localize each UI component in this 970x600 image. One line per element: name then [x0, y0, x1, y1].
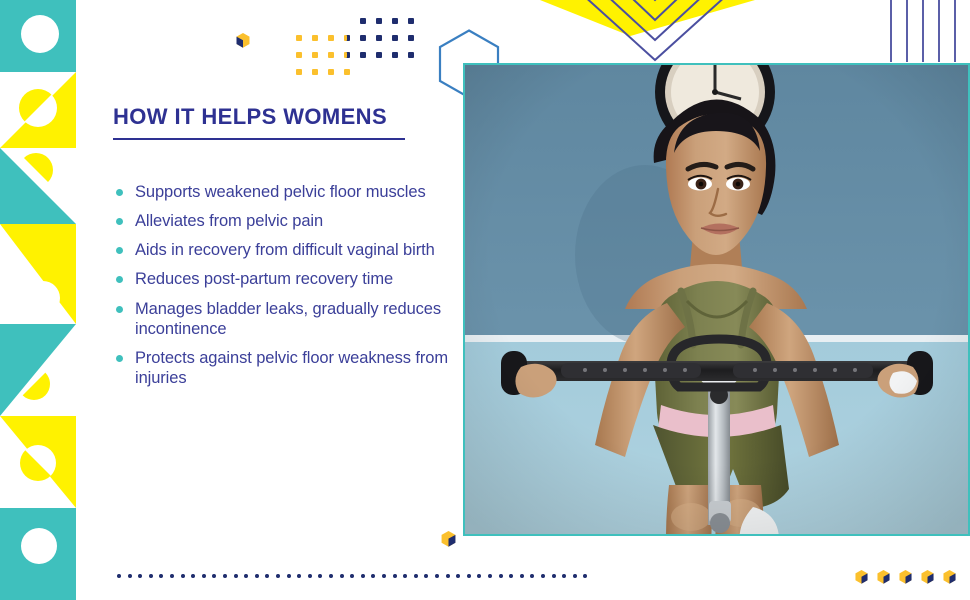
grid-dot — [328, 52, 334, 58]
rule-dot — [393, 574, 397, 578]
rule-dot — [371, 574, 375, 578]
white-circle — [21, 15, 59, 53]
left-decorative-strip — [0, 0, 76, 600]
rule-dot — [541, 574, 545, 578]
strip-cell-6 — [0, 416, 76, 508]
rule-dot — [350, 574, 354, 578]
cube-icon — [899, 570, 912, 584]
grid-dot — [376, 18, 382, 24]
rule-dot — [435, 574, 439, 578]
vertical-line — [938, 0, 940, 62]
rule-dot — [212, 574, 216, 578]
grid-dot — [360, 52, 366, 58]
grid-dot — [344, 35, 350, 41]
strip-cell-1 — [0, 0, 76, 72]
grid-dot — [376, 35, 382, 41]
strip-cell-5 — [0, 324, 76, 416]
benefit-item: Aids in recovery from difficult vaginal … — [113, 240, 463, 260]
rule-dot — [477, 574, 481, 578]
rule-dot — [446, 574, 450, 578]
dotted-rule-decoration — [117, 574, 591, 580]
strip-cell-3 — [0, 148, 76, 224]
rule-dot — [170, 574, 174, 578]
bullet-dot-icon — [116, 189, 123, 196]
rule-dot — [414, 574, 418, 578]
rule-dot — [117, 574, 121, 578]
rule-dot — [308, 574, 312, 578]
grid-dot — [392, 52, 398, 58]
vertical-line — [922, 0, 924, 62]
grid-dot — [328, 69, 334, 75]
grid-dot — [392, 18, 398, 24]
rule-dot — [287, 574, 291, 578]
rule-dot — [509, 574, 513, 578]
benefit-item-label: Protects against pelvic floor weakness f… — [135, 349, 448, 387]
cube-icon — [441, 531, 456, 547]
hero-photo-frame — [463, 63, 970, 536]
rule-dot — [318, 574, 322, 578]
benefit-item-label: Supports weakened pelvic floor muscles — [135, 183, 426, 201]
rule-dot — [403, 574, 407, 578]
bullet-dot-icon — [116, 306, 123, 313]
rule-dot — [234, 574, 238, 578]
vertical-lines-decoration — [880, 0, 970, 62]
benefit-item-label: Manages bladder leaks, gradually reduces… — [135, 300, 441, 338]
rule-dot — [138, 574, 142, 578]
hero-photo — [465, 65, 968, 534]
benefit-item-label: Reduces post-partum recovery time — [135, 270, 393, 288]
grid-dot — [360, 18, 366, 24]
promo-banner: HOW IT HELPS WOMENS Supports weakened pe… — [0, 0, 970, 600]
text-content-block: HOW IT HELPS WOMENS Supports weakened pe… — [113, 104, 463, 397]
rule-dot — [223, 574, 227, 578]
cube-icon — [943, 570, 956, 584]
grid-dot — [296, 52, 302, 58]
cube-icon — [921, 570, 934, 584]
grid-dot — [296, 69, 302, 75]
page-title: HOW IT HELPS WOMENS — [113, 104, 463, 136]
teal-triangle — [0, 324, 76, 416]
rule-dot — [499, 574, 503, 578]
rule-dot — [583, 574, 587, 578]
rule-dot — [456, 574, 460, 578]
rule-dot — [329, 574, 333, 578]
benefit-item: Alleviates from pelvic pain — [113, 211, 463, 231]
rule-dot — [265, 574, 269, 578]
benefit-item: Protects against pelvic floor weakness f… — [113, 348, 463, 388]
dot-grid-decoration — [296, 18, 412, 80]
vertical-line — [954, 0, 956, 62]
rule-dot — [340, 574, 344, 578]
rule-dot — [530, 574, 534, 578]
grid-dot — [312, 52, 318, 58]
rule-dot — [202, 574, 206, 578]
bullet-dot-icon — [116, 355, 123, 362]
rule-dot — [424, 574, 428, 578]
benefits-list: Supports weakened pelvic floor musclesAl… — [113, 182, 463, 388]
grid-dot — [312, 69, 318, 75]
bullet-dot-icon — [116, 218, 123, 225]
title-underline — [113, 138, 405, 140]
rule-dot — [244, 574, 248, 578]
rule-dot — [361, 574, 365, 578]
rule-dot — [297, 574, 301, 578]
benefit-item: Reduces post-partum recovery time — [113, 269, 463, 289]
rule-dot — [488, 574, 492, 578]
rule-dot — [128, 574, 132, 578]
grid-dot — [312, 35, 318, 41]
bullet-dot-icon — [116, 247, 123, 254]
cube-icon — [877, 570, 890, 584]
rule-dot — [382, 574, 386, 578]
rule-dot — [255, 574, 259, 578]
rule-dot — [562, 574, 566, 578]
grid-dot — [376, 52, 382, 58]
benefit-item-label: Aids in recovery from difficult vaginal … — [135, 241, 435, 259]
benefit-item: Manages bladder leaks, gradually reduces… — [113, 299, 463, 339]
grid-dot — [392, 35, 398, 41]
grid-dot — [328, 35, 334, 41]
grid-dot — [408, 18, 414, 24]
strip-cell-7 — [0, 508, 76, 600]
strip-cell-2 — [0, 72, 76, 148]
rule-dot — [159, 574, 163, 578]
rule-dot — [276, 574, 280, 578]
grid-dot — [408, 52, 414, 58]
rule-dot — [520, 574, 524, 578]
benefit-item-label: Alleviates from pelvic pain — [135, 212, 323, 230]
cube-icon — [855, 570, 868, 584]
white-circle — [21, 528, 57, 564]
grid-dot — [360, 35, 366, 41]
nested-chevrons-decoration — [540, 0, 770, 68]
rule-dot — [191, 574, 195, 578]
white-circle — [26, 281, 60, 315]
rule-dot — [467, 574, 471, 578]
cube-icon — [236, 33, 250, 48]
bullet-dot-icon — [116, 276, 123, 283]
benefit-item: Supports weakened pelvic floor muscles — [113, 182, 463, 202]
rule-dot — [149, 574, 153, 578]
strip-cell-4 — [0, 224, 76, 324]
vertical-line — [890, 0, 892, 62]
vertical-line — [906, 0, 908, 62]
grid-dot — [344, 69, 350, 75]
grid-dot — [344, 52, 350, 58]
grid-dot — [296, 35, 302, 41]
rule-dot — [552, 574, 556, 578]
rule-dot — [181, 574, 185, 578]
rule-dot — [573, 574, 577, 578]
grid-dot — [408, 35, 414, 41]
